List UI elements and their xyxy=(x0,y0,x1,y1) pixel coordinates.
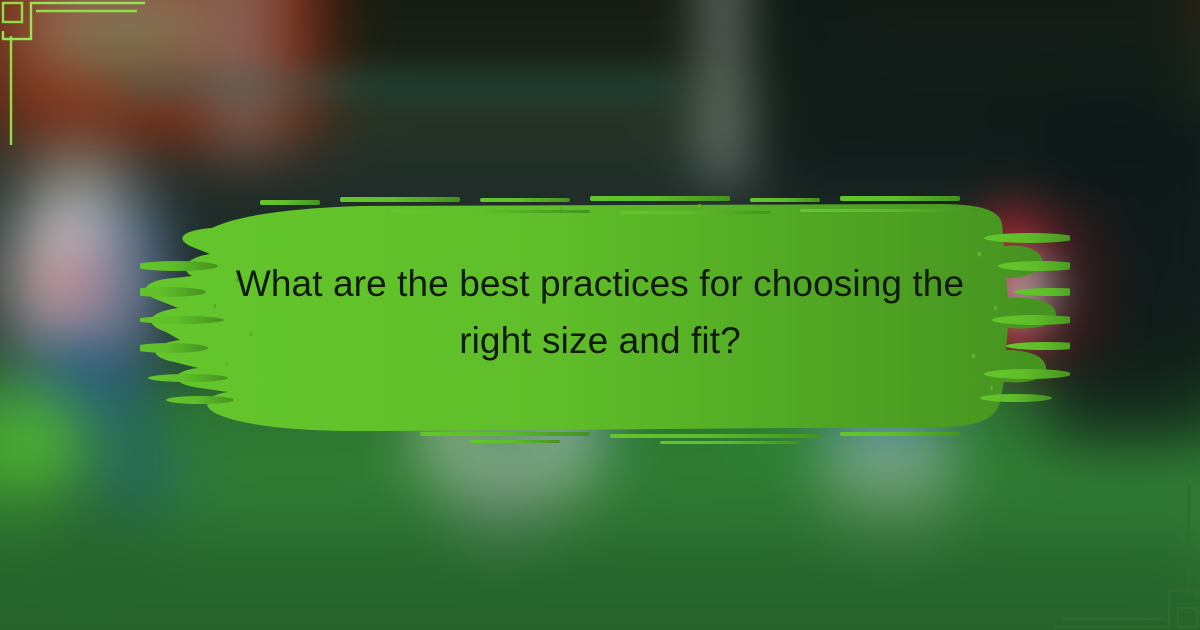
headline-text: What are the best practices for choosing… xyxy=(205,255,995,375)
social-share-card: What are the best practices for choosing… xyxy=(0,0,1200,630)
headline-container: What are the best practices for choosing… xyxy=(0,0,1200,630)
